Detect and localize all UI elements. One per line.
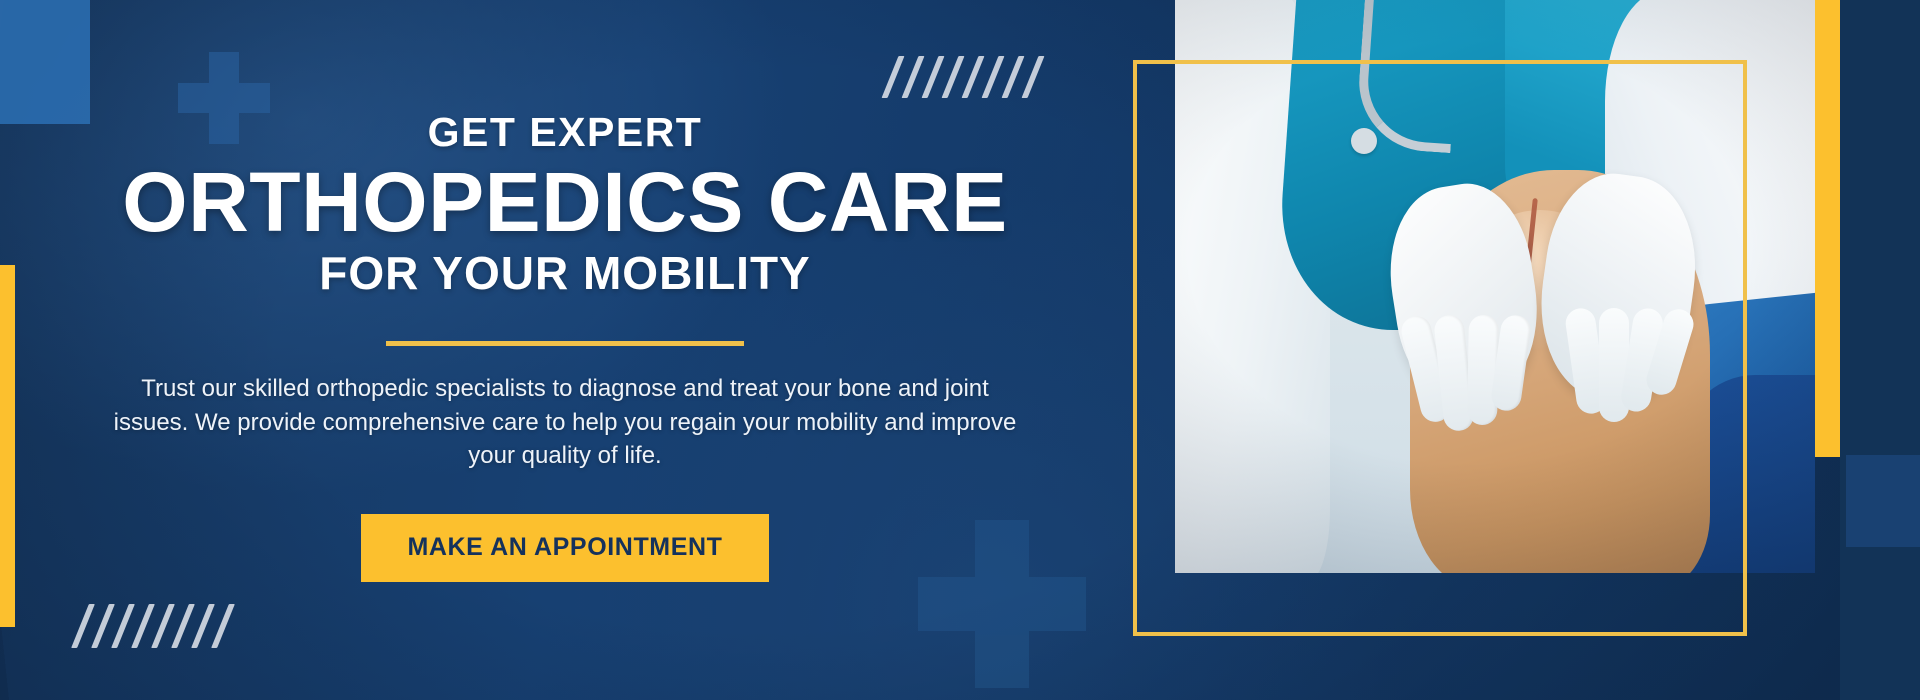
hero-photo <box>1175 0 1815 573</box>
orthopedics-hero-banner: GET EXPERT ORTHOPEDICS CARE FOR YOUR MOB… <box>0 0 1920 700</box>
hero-photo-artwork <box>1175 0 1815 573</box>
yellow-divider <box>386 341 744 346</box>
hero-headline: ORTHOPEDICS CARE <box>122 158 1007 247</box>
hero-eyebrow: GET EXPERT <box>428 112 703 154</box>
photo-shading <box>1175 0 1815 573</box>
hero-copy-block: GET EXPERT ORTHOPEDICS CARE FOR YOUR MOB… <box>0 0 1130 700</box>
hero-description: Trust our skilled orthopedic specialists… <box>105 372 1025 471</box>
right-navy-block <box>1840 0 1920 700</box>
make-an-appointment-button[interactable]: MAKE AN APPOINTMENT <box>361 514 768 582</box>
right-navy-square <box>1846 455 1920 547</box>
hero-subhead: FOR YOUR MOBILITY <box>319 249 811 297</box>
